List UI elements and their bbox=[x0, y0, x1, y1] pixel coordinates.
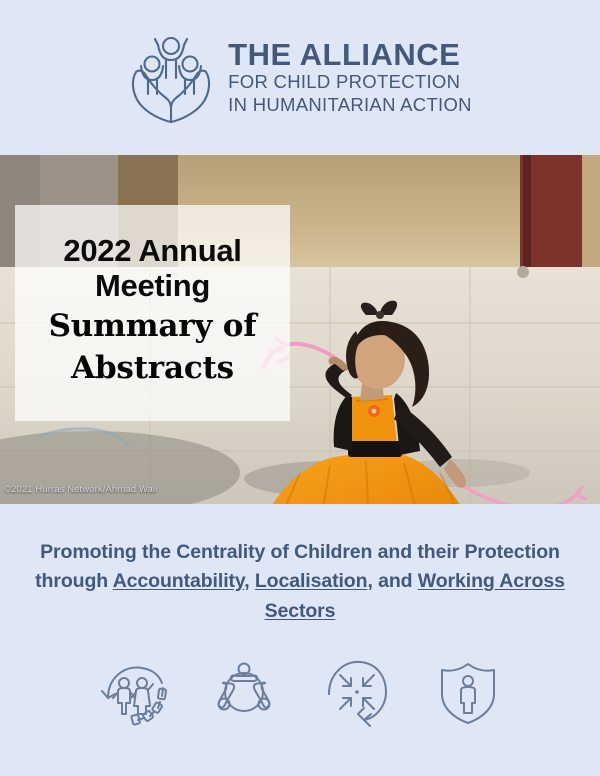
organisation-name: THE ALLIANCE FOR CHILD PROTECTION IN HUM… bbox=[228, 39, 472, 117]
subtitle-separator-1: , bbox=[244, 570, 255, 592]
cover-subtitle: Promoting the Centrality of Children and… bbox=[0, 504, 600, 626]
cover-page: THE ALLIANCE FOR CHILD PROTECTION IN HUM… bbox=[0, 0, 600, 776]
shield-person-protection-icon bbox=[432, 656, 504, 728]
cover-title-line-1: 2022 Annual bbox=[63, 234, 241, 269]
org-name-line-1: THE ALLIANCE bbox=[228, 39, 472, 72]
subtitle-link-accountability[interactable]: Accountability bbox=[113, 570, 245, 592]
cover-photo: 2022 Annual Meeting Summary of Abstracts… bbox=[0, 155, 600, 504]
cover-title-line-4: Abstracts bbox=[71, 350, 234, 388]
subtitle-link-localisation[interactable]: Localisation bbox=[255, 570, 368, 592]
people-circle-localisation-icon bbox=[208, 656, 280, 728]
cover-title-line-3: Summary of bbox=[49, 308, 257, 346]
org-name-line-3: IN HUMANITARIAN ACTION bbox=[228, 94, 472, 117]
photo-credit: ©2021 Hurras Network/Ahmad Wali bbox=[4, 484, 157, 495]
theme-icon-row bbox=[0, 656, 600, 728]
children-accountability-icon bbox=[96, 656, 168, 728]
cover-title-box: 2022 Annual Meeting Summary of Abstracts bbox=[15, 205, 290, 421]
org-name-line-2: FOR CHILD PROTECTION bbox=[228, 71, 472, 94]
cover-title-line-2: Meeting bbox=[95, 269, 210, 304]
organisation-header: THE ALLIANCE FOR CHILD PROTECTION IN HUM… bbox=[0, 0, 600, 155]
subtitle-separator-2: , and bbox=[367, 570, 417, 592]
hands-holding-children-icon bbox=[128, 32, 214, 124]
converging-arrows-sectors-icon bbox=[320, 656, 392, 728]
